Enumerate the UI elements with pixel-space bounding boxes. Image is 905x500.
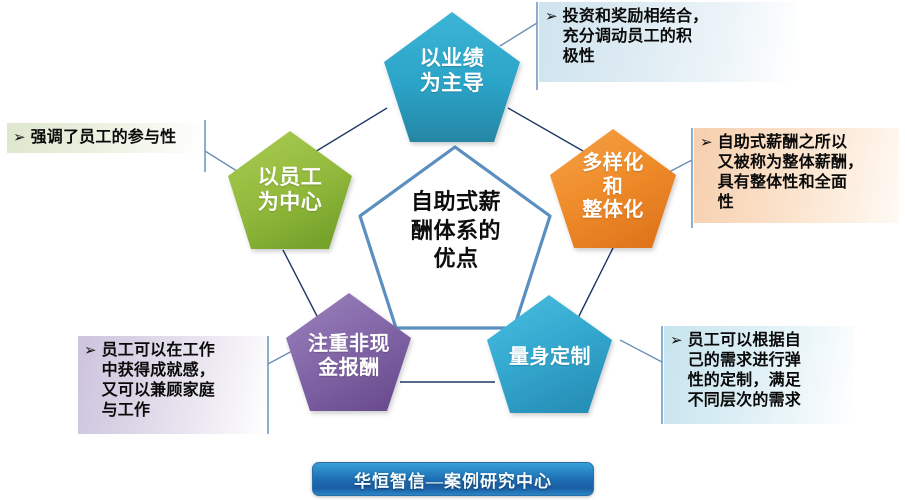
callout-employee-note[interactable]: ➢ 强调了员工的参与性 — [7, 123, 204, 153]
callout-text: 自助式薪酬之所以 又被称为整体薪酬， 具有整体性和全面 性 — [718, 133, 891, 214]
callout-text: 员工可以根据自 己的需求进行弹 性的定制，满足 不同层次的需求 — [688, 331, 846, 412]
callout-performance-note[interactable]: ➢ 投资和奖励相结合， 充分调动员工的积 极性 — [539, 2, 796, 82]
footer-banner-text: 华恒智信—案例研究中心 — [354, 467, 552, 492]
callout-text: 强调了员工的参与性 — [31, 128, 196, 148]
pentagon-diversity[interactable] — [550, 129, 676, 248]
footer-banner[interactable]: 华恒智信—案例研究中心 — [312, 462, 594, 496]
callout-noncash-note[interactable]: ➢ 员工可以在工作 中获得成就感， 又可以兼顾家庭 与工作 — [78, 336, 267, 434]
bullet-arrow-icon: ➢ — [700, 134, 713, 153]
center-pentagon-label: 自助式薪 酬体系的 优点 — [362, 188, 550, 274]
callout-custom-note[interactable]: ➢ 员工可以根据自 己的需求进行弹 性的定制，满足 不同层次的需求 — [664, 326, 854, 424]
pentagon-performance[interactable] — [384, 12, 520, 142]
bullet-arrow-icon: ➢ — [545, 8, 558, 27]
bullet-arrow-icon: ➢ — [13, 129, 26, 148]
bullet-arrow-icon: ➢ — [84, 342, 97, 361]
diagram-canvas: 自助式薪 酬体系的 优点 以业绩 为主导 以员工 为中心 多样化 和 整体化 注… — [0, 0, 905, 500]
pentagon-employee[interactable] — [228, 131, 352, 249]
callout-text: 员工可以在工作 中获得成就感， 又可以兼顾家庭 与工作 — [102, 341, 259, 422]
callout-text: 投资和奖励相结合， 充分调动员工的积 极性 — [563, 7, 788, 67]
bullet-arrow-icon: ➢ — [670, 332, 683, 351]
callout-diversity-note[interactable]: ➢ 自助式薪酬之所以 又被称为整体薪酬， 具有整体性和全面 性 — [694, 128, 899, 223]
